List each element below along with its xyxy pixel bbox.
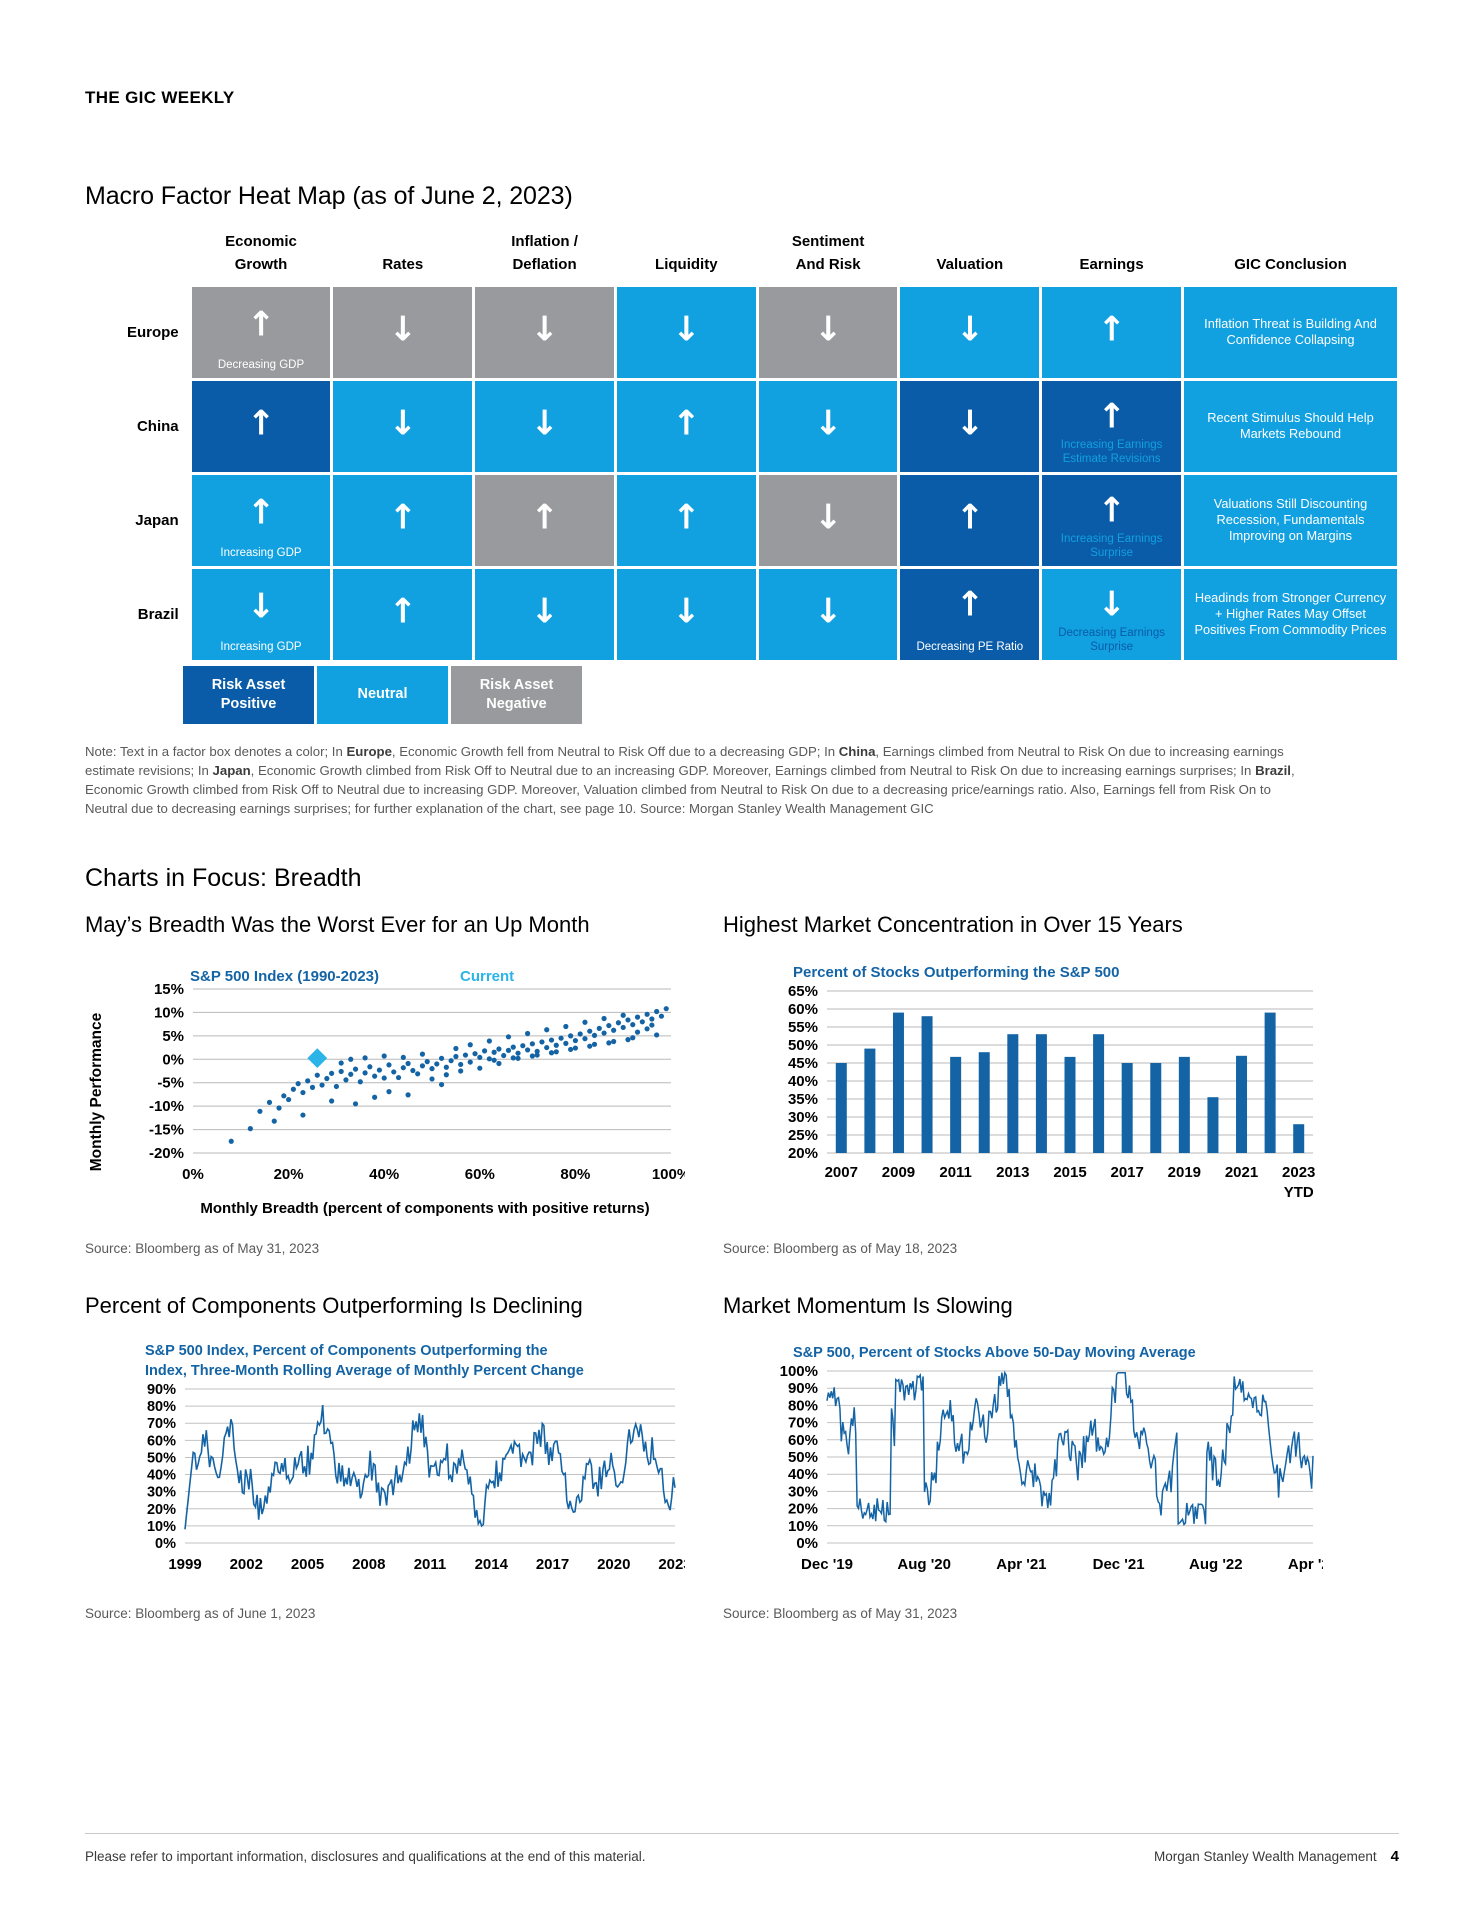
scatter-point <box>420 1063 425 1068</box>
scatter-point <box>649 1016 654 1021</box>
bar-column <box>1265 1012 1276 1152</box>
charts-row-1: May’s Breadth Was the Worst Ever for an … <box>85 911 1399 1256</box>
arrow-down-icon: ↓ <box>900 312 1039 346</box>
heatmap-col-header-6: .Earnings <box>1042 230 1181 284</box>
line2-series-path <box>827 1373 1313 1525</box>
scatter-point <box>520 1043 525 1048</box>
line2-ytick: 90% <box>788 1380 818 1397</box>
bar-xtick: 2019 <box>1168 1164 1201 1181</box>
scatter-ytick: 10% <box>154 1004 184 1021</box>
heatmap-cell: ↑ <box>192 381 331 472</box>
chart-plot-3: S&P 500 Index, Percent of Components Out… <box>85 1337 685 1592</box>
bar-xtick: 2009 <box>882 1164 915 1181</box>
scatter-legend-series: S&P 500 Index (1990-2023) <box>190 968 379 985</box>
heatmap-note: Note: Text in a factor box denotes a col… <box>85 742 1295 819</box>
arrow-down-icon: ↓ <box>475 594 614 628</box>
scatter-point <box>300 1112 305 1117</box>
heatmap-body: Europe↑Decreasing GDP↓↓↓↓↓↑Inflation Thr… <box>88 287 1397 660</box>
line1-ytick: 0% <box>155 1536 176 1552</box>
arrow-down-icon: ↓ <box>617 594 756 628</box>
scatter-point <box>645 1011 650 1016</box>
scatter-point <box>592 1041 597 1046</box>
arrow-up-icon: ↑ <box>900 587 1039 621</box>
heatmap-conclusion-cell: Recent Stimulus Should Help Markets Rebo… <box>1184 381 1397 472</box>
heatmap-cell: ↓ <box>333 287 472 378</box>
heatmap-cell: ↓ <box>900 287 1039 378</box>
line2-xtick: Apr '23 <box>1288 1556 1323 1573</box>
scatter-point <box>401 1054 406 1059</box>
bar-xtick: 2007 <box>825 1164 858 1181</box>
scatter-point <box>487 1056 492 1061</box>
scatter-point <box>606 1023 611 1028</box>
scatter-point <box>511 1044 516 1049</box>
scatter-point <box>248 1126 253 1131</box>
scatter-point <box>458 1061 463 1066</box>
scatter-ytick: -15% <box>149 1121 184 1138</box>
arrow-up-icon: ↑ <box>617 406 756 440</box>
scatter-point <box>353 1066 358 1071</box>
heatmap-cell: ↓Decreasing Earnings Surprise <box>1042 569 1181 660</box>
document-page: THE GIC WEEKLY Macro Factor Heat Map (as… <box>0 0 1484 1920</box>
scatter-point <box>401 1065 406 1070</box>
scatter-point <box>420 1051 425 1056</box>
scatter-point <box>468 1059 473 1064</box>
scatter-point <box>625 1017 630 1022</box>
legend-risk-asset-negative: Risk Asset Negative <box>451 666 582 724</box>
heatmap-cell: ↓ <box>475 287 614 378</box>
chart-heading-2: Highest Market Concentration in Over 15 … <box>723 911 1323 939</box>
scatter-point <box>315 1072 320 1077</box>
scatter-point <box>382 1053 387 1058</box>
chart-card-market-concentration: Highest Market Concentration in Over 15 … <box>723 911 1323 1256</box>
heatmap-cell: ↓ <box>759 381 898 472</box>
bar-column <box>1007 1034 1018 1153</box>
scatter-point <box>554 1042 559 1047</box>
heatmap-cell: ↓ <box>333 381 472 472</box>
bar-column <box>1236 1055 1247 1152</box>
bar-column <box>836 1063 847 1153</box>
scatter-point <box>319 1082 324 1087</box>
heatmap-cell: ↓ <box>759 287 898 378</box>
scatter-point <box>616 1020 621 1025</box>
scatter-point <box>621 1024 626 1029</box>
scatter-xtick: 80% <box>560 1166 590 1183</box>
scatter-point <box>453 1053 458 1058</box>
scatter-ytick: -5% <box>157 1074 184 1091</box>
scatter-ytick: -20% <box>149 1145 184 1162</box>
scatter-point <box>425 1059 430 1064</box>
scatter-point <box>358 1079 363 1084</box>
scatter-point <box>463 1052 468 1057</box>
footer-disclaimer: Please refer to important information, d… <box>85 1849 646 1864</box>
chart-source-4: Source: Bloomberg as of May 31, 2023 <box>723 1606 1323 1621</box>
scatter-point <box>415 1071 420 1076</box>
arrow-up-icon: ↑ <box>617 500 756 534</box>
arrow-down-icon: ↓ <box>759 312 898 346</box>
scatter-point <box>525 1030 530 1035</box>
scatter-point <box>515 1050 520 1055</box>
line-chart-2-svg: S&P 500, Percent of Stocks Above 50-Day … <box>723 1337 1323 1592</box>
chart-source-1: Source: Bloomberg as of May 31, 2023 <box>85 1241 685 1256</box>
heatmap-row: Brazil↓Increasing GDP↑↓↓↓↑Decreasing PE … <box>88 569 1397 660</box>
line1-xtick: 2017 <box>536 1556 569 1573</box>
scatter-point <box>563 1040 568 1045</box>
arrow-up-icon: ↑ <box>333 594 472 628</box>
heatmap-conclusion-text: Recent Stimulus Should Help Markets Rebo… <box>1184 381 1397 472</box>
bar-xtick: 2023 <box>1282 1164 1315 1181</box>
heatmap-cell-note: Decreasing GDP <box>194 358 329 372</box>
line2-ytick: 100% <box>780 1363 818 1380</box>
scatter-xtick: 0% <box>182 1166 204 1183</box>
scatter-xtick: 20% <box>274 1166 304 1183</box>
heatmap-cell: ↓ <box>900 381 1039 472</box>
scatter-point <box>496 1046 501 1051</box>
scatter-point <box>334 1083 339 1088</box>
scatter-xtick: 40% <box>369 1166 399 1183</box>
heatmap-cell: ↑Increasing GDP <box>192 475 331 566</box>
heatmap-title: Macro Factor Heat Map (as of June 2, 202… <box>85 182 1399 211</box>
arrow-down-icon: ↓ <box>1042 587 1181 621</box>
heatmap-col-header-1: .Rates <box>333 230 472 284</box>
heatmap-cell-note: Decreasing Earnings Surprise <box>1044 626 1179 654</box>
heatmap-conclusion-cell: Inflation Threat is Building And Confide… <box>1184 287 1397 378</box>
heatmap-col-header-0: EconomicGrowth <box>192 230 331 284</box>
heatmap-row: Europe↑Decreasing GDP↓↓↓↓↓↑Inflation Thr… <box>88 287 1397 378</box>
arrow-down-icon: ↓ <box>475 312 614 346</box>
scatter-current-marker <box>307 1048 327 1068</box>
scatter-point <box>664 1006 669 1011</box>
scatter-point <box>487 1038 492 1043</box>
heatmap-cell: ↓Increasing GDP <box>192 569 331 660</box>
heatmap-cell: ↓ <box>617 569 756 660</box>
heatmap-row-label-brazil: Brazil <box>88 569 189 660</box>
chart-source-3: Source: Bloomberg as of June 1, 2023 <box>85 1606 685 1621</box>
heatmap-col-header-7: .GIC Conclusion <box>1184 230 1397 284</box>
scatter-point <box>296 1081 301 1086</box>
scatter-point <box>544 1027 549 1032</box>
chart-card-components-outperforming: Percent of Components Outperforming Is D… <box>85 1292 685 1622</box>
scatter-point <box>558 1035 563 1040</box>
arrow-down-icon: ↓ <box>333 312 472 346</box>
line1-series-path <box>185 1405 675 1529</box>
heatmap-conclusion-cell: Headinds from Stronger Currency + Higher… <box>1184 569 1397 660</box>
scatter-point <box>568 1046 573 1051</box>
scatter-point <box>434 1061 439 1066</box>
arrow-down-icon: ↓ <box>617 312 756 346</box>
line1-ytick: 80% <box>147 1399 176 1415</box>
scatter-point <box>530 1053 535 1058</box>
scatter-point <box>573 1038 578 1043</box>
line1-ytick: 50% <box>147 1451 176 1467</box>
line2-ytick: 40% <box>788 1466 818 1483</box>
scatter-ytick: 5% <box>162 1027 184 1044</box>
scatter-point <box>429 1066 434 1071</box>
scatter-point <box>372 1094 377 1099</box>
scatter-point <box>573 1045 578 1050</box>
scatter-xtick: 60% <box>465 1166 495 1183</box>
heatmap-cell: ↓ <box>617 287 756 378</box>
scatter-point <box>496 1060 501 1065</box>
heatmap-row-label-europe: Europe <box>88 287 189 378</box>
scatter-point <box>348 1071 353 1076</box>
scatter-point <box>601 1015 606 1020</box>
scatter-point <box>530 1041 535 1046</box>
scatter-ytick: 0% <box>162 1051 184 1068</box>
heatmap-cell: ↑ <box>1042 287 1181 378</box>
scatter-point <box>587 1043 592 1048</box>
scatter-point <box>439 1082 444 1087</box>
scatter-point <box>343 1077 348 1082</box>
heatmap-row: China↑↓↓↑↓↓↑Increasing Earnings Estimate… <box>88 381 1397 472</box>
line1-xtick: 1999 <box>168 1556 201 1573</box>
arrow-up-icon: ↑ <box>1042 312 1181 346</box>
line2-ytick: 30% <box>788 1483 818 1500</box>
line2-ytick: 10% <box>788 1518 818 1535</box>
arrow-up-icon: ↑ <box>475 500 614 534</box>
scatter-point <box>568 1033 573 1038</box>
scatter-legend-current: Current <box>460 968 514 985</box>
arrow-down-icon: ↓ <box>759 594 898 628</box>
charts-row-2: Percent of Components Outperforming Is D… <box>85 1292 1399 1622</box>
arrow-down-icon: ↓ <box>759 500 898 534</box>
heatmap-conclusion-text: Headinds from Stronger Currency + Higher… <box>1184 569 1397 660</box>
chart-card-breadth-scatter: May’s Breadth Was the Worst Ever for an … <box>85 911 685 1256</box>
scatter-point <box>649 1022 654 1027</box>
line1-xtick: 2011 <box>414 1556 447 1573</box>
scatter-point <box>229 1138 234 1143</box>
scatter-xlabel: Monthly Breadth (percent of components w… <box>200 1200 649 1217</box>
scatter-point <box>544 1045 549 1050</box>
heatmap-col-header-2: Inflation /Deflation <box>475 230 614 284</box>
scatter-point <box>549 1037 554 1042</box>
scatter-point <box>511 1055 516 1060</box>
chart-source-2: Source: Bloomberg as of May 18, 2023 <box>723 1241 1323 1256</box>
chart-plot-1: Monthly Performance 15%10%5%0%-5%-10%-15… <box>85 957 685 1227</box>
scatter-point <box>492 1057 497 1062</box>
bar-column <box>1179 1056 1190 1152</box>
line2-xtick: Aug '20 <box>897 1556 951 1573</box>
heatmap-corner-cell <box>88 230 189 284</box>
bar-column <box>1093 1034 1104 1153</box>
scatter-ytick: -10% <box>149 1098 184 1115</box>
scatter-point <box>578 1031 583 1036</box>
arrow-down-icon: ↓ <box>333 406 472 440</box>
scatter-point <box>506 1047 511 1052</box>
heatmap-conclusion-text: Inflation Threat is Building And Confide… <box>1184 287 1397 378</box>
line1-xtick: 2023 <box>658 1556 685 1573</box>
arrow-up-icon: ↑ <box>1042 493 1181 527</box>
chart-heading-4: Market Momentum Is Slowing <box>723 1292 1323 1320</box>
bar-column <box>1293 1124 1304 1153</box>
arrow-up-icon: ↑ <box>192 496 331 530</box>
line2-xtick: Dec '21 <box>1093 1556 1145 1573</box>
footer-page-number: 4 <box>1391 1848 1399 1865</box>
scatter-point <box>477 1065 482 1070</box>
bar-xtick-sub: YTD <box>1284 1184 1314 1201</box>
heatmap-cell: ↓ <box>475 381 614 472</box>
line1-ytick: 90% <box>147 1382 176 1398</box>
scatter-point <box>305 1078 310 1083</box>
bar-column <box>1150 1063 1161 1153</box>
heatmap-cell-note: Increasing Earnings Surprise <box>1044 532 1179 560</box>
arrow-up-icon: ↑ <box>1042 399 1181 433</box>
line2-title: S&P 500, Percent of Stocks Above 50-Day … <box>793 1345 1196 1361</box>
heatmap-cell-note: Decreasing PE Ratio <box>902 640 1037 654</box>
scatter-point <box>635 1014 640 1019</box>
scatter-point <box>582 1019 587 1024</box>
bar-ytick: 55% <box>788 1019 818 1036</box>
line2-ytick: 70% <box>788 1415 818 1432</box>
bar-chart-title: Percent of Stocks Outperforming the S&P … <box>793 964 1119 981</box>
scatter-point <box>429 1076 434 1081</box>
heatmap-cell: ↑Increasing Earnings Surprise <box>1042 475 1181 566</box>
scatter-point <box>592 1032 597 1037</box>
heatmap-cell: ↓ <box>759 475 898 566</box>
scatter-point <box>458 1068 463 1073</box>
scatter-point <box>329 1098 334 1103</box>
scatter-point <box>267 1099 272 1104</box>
scatter-point <box>444 1072 449 1077</box>
line1-ytick: 30% <box>147 1485 176 1501</box>
scatter-point <box>630 1035 635 1040</box>
scatter-point <box>525 1047 530 1052</box>
bar-column <box>922 1016 933 1153</box>
scatter-point <box>563 1023 568 1028</box>
scatter-point <box>582 1036 587 1041</box>
scatter-point <box>654 1008 659 1013</box>
heatmap-cell: ↑ <box>333 475 472 566</box>
scatter-point <box>382 1075 387 1080</box>
scatter-point <box>324 1075 329 1080</box>
heatmap-cell: ↑ <box>333 569 472 660</box>
line1-xtick: 2008 <box>352 1556 385 1573</box>
arrow-down-icon: ↓ <box>475 406 614 440</box>
heatmap-col-header-5: .Valuation <box>900 230 1039 284</box>
heatmap-conclusion-text: Valuations Still Discounting Recession, … <box>1184 475 1397 566</box>
heatmap-cell: ↑Decreasing PE Ratio <box>900 569 1039 660</box>
arrow-up-icon: ↑ <box>900 500 1039 534</box>
bar-ytick: 35% <box>788 1091 818 1108</box>
bar-xtick: 2011 <box>939 1164 972 1181</box>
heatmap-cell: ↑Decreasing GDP <box>192 287 331 378</box>
line2-xtick: Apr '21 <box>996 1556 1046 1573</box>
scatter-point <box>654 1032 659 1037</box>
scatter-plot-svg: Monthly Performance 15%10%5%0%-5%-10%-15… <box>85 957 685 1227</box>
line1-ytick: 20% <box>147 1502 176 1518</box>
scatter-point <box>554 1049 559 1054</box>
line2-ytick: 0% <box>796 1535 818 1552</box>
page-footer: Please refer to important information, d… <box>85 1833 1399 1865</box>
scatter-point <box>625 1037 630 1042</box>
scatter-point <box>386 1089 391 1094</box>
heatmap-cell: ↑Increasing Earnings Estimate Revisions <box>1042 381 1181 472</box>
bar-column <box>1207 1097 1218 1153</box>
bar-ytick: 50% <box>788 1037 818 1054</box>
bar-ytick: 65% <box>788 983 818 1000</box>
arrow-down-icon: ↓ <box>900 406 1039 440</box>
bar-ytick: 25% <box>788 1127 818 1144</box>
charts-section-title: Charts in Focus: Breadth <box>85 864 1399 893</box>
line1-ytick: 10% <box>147 1519 176 1535</box>
scatter-point <box>621 1012 626 1017</box>
scatter-point <box>506 1034 511 1039</box>
line1-ytick: 40% <box>147 1468 176 1484</box>
scatter-point <box>539 1039 544 1044</box>
line2-xtick: Dec '19 <box>801 1556 853 1573</box>
scatter-point <box>353 1101 358 1106</box>
scatter-point <box>348 1056 353 1061</box>
scatter-point <box>597 1025 602 1030</box>
line2-xtick: Aug '22 <box>1189 1556 1243 1573</box>
scatter-point <box>367 1064 372 1069</box>
bar-ytick: 60% <box>788 1001 818 1018</box>
scatter-point <box>449 1058 454 1063</box>
heatmap-col-header-3: .Liquidity <box>617 230 756 284</box>
bar-chart-svg: Percent of Stocks Outperforming the S&P … <box>723 957 1323 1227</box>
scatter-point <box>377 1067 382 1072</box>
legend-risk-asset-positive: Risk Asset Positive <box>183 666 314 724</box>
scatter-ylabel: Monthly Performance <box>88 1012 105 1171</box>
scatter-point <box>630 1022 635 1027</box>
line2-ytick: 60% <box>788 1432 818 1449</box>
scatter-point <box>444 1064 449 1069</box>
footer-brand: Morgan Stanley Wealth Management <box>1154 1849 1377 1864</box>
scatter-point <box>640 1019 645 1024</box>
line2-ytick: 80% <box>788 1397 818 1414</box>
heatmap-row-label-japan: Japan <box>88 475 189 566</box>
bar-xtick: 2013 <box>996 1164 1029 1181</box>
line1-xtick: 2014 <box>475 1556 509 1573</box>
bar-column <box>864 1048 875 1152</box>
scatter-point <box>406 1060 411 1065</box>
line-chart-1-svg: S&P 500 Index, Percent of Components Out… <box>85 1337 685 1592</box>
scatter-point <box>286 1097 291 1102</box>
heatmap-cell: ↓ <box>475 569 614 660</box>
scatter-point <box>587 1028 592 1033</box>
line1-title-line-b: Index, Three-Month Rolling Average of Mo… <box>145 1363 584 1379</box>
line1-xtick: 2002 <box>230 1556 263 1573</box>
chart-card-market-momentum: Market Momentum Is Slowing S&P 500, Perc… <box>723 1292 1323 1622</box>
heatmap-header-row: EconomicGrowth.RatesInflation /Deflation… <box>88 230 1397 284</box>
scatter-point <box>362 1055 367 1060</box>
scatter-point <box>515 1055 520 1060</box>
scatter-point <box>276 1105 281 1110</box>
scatter-point <box>549 1050 554 1055</box>
heatmap-row-label-china: China <box>88 381 189 472</box>
bar-xtick: 2017 <box>1110 1164 1143 1181</box>
scatter-point <box>601 1030 606 1035</box>
macro-factor-heat-map: EconomicGrowth.RatesInflation /Deflation… <box>85 227 1400 724</box>
line2-ytick: 20% <box>788 1501 818 1518</box>
arrow-up-icon: ↑ <box>192 308 331 342</box>
arrow-up-icon: ↑ <box>192 406 331 440</box>
scatter-point <box>468 1042 473 1047</box>
heatmap-row: Japan↑Increasing GDP↑↑↑↓↑↑Increasing Ear… <box>88 475 1397 566</box>
scatter-point <box>386 1062 391 1067</box>
scatter-point <box>281 1093 286 1098</box>
heatmap-cell-note: Increasing Earnings Estimate Revisions <box>1044 438 1179 466</box>
scatter-point <box>291 1086 296 1091</box>
scatter-point <box>659 1013 664 1018</box>
bar-column <box>1065 1056 1076 1152</box>
scatter-point <box>396 1075 401 1080</box>
bar-ytick: 20% <box>788 1145 818 1162</box>
legend-neutral: Neutral <box>317 666 448 724</box>
scatter-point <box>482 1048 487 1053</box>
bar-column <box>950 1056 961 1152</box>
scatter-point <box>645 1026 650 1031</box>
line1-ytick: 70% <box>147 1416 176 1432</box>
